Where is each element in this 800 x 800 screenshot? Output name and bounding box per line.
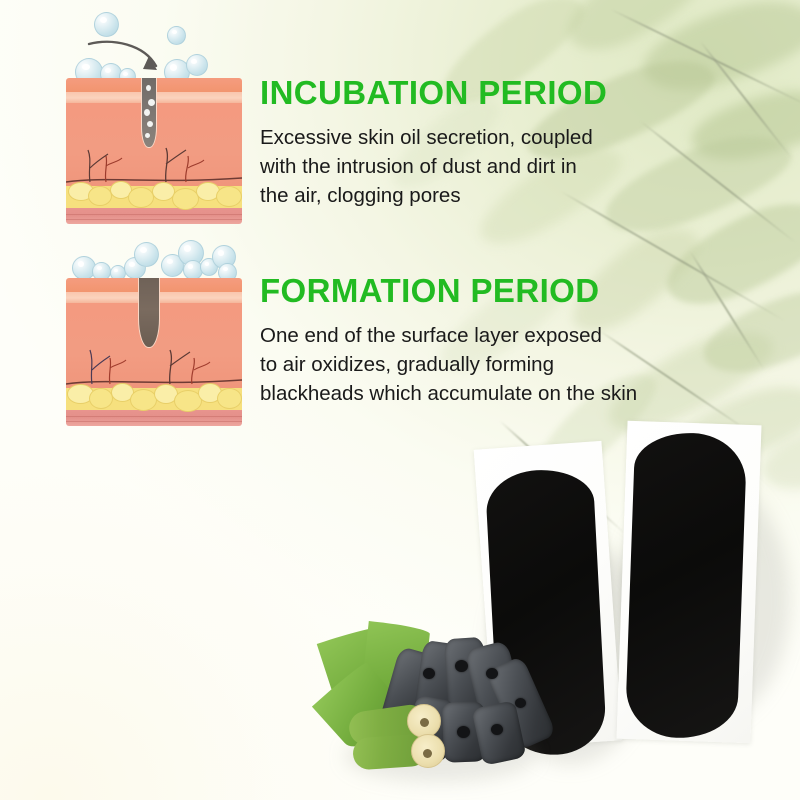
blackhead-plug <box>138 278 160 348</box>
muscle-striation <box>66 214 242 215</box>
sebum-particle <box>148 99 155 106</box>
oil-bubble <box>186 54 208 76</box>
body-formation-period: One end of the surface layer exposed to … <box>260 321 720 408</box>
bamboo-cut-hole <box>423 749 432 758</box>
charcoal-hole <box>491 724 503 735</box>
muscle-striation <box>66 416 242 417</box>
capillary-vessels <box>66 340 242 392</box>
infographic-page: INCUBATION PERIOD Excessive skin oil sec… <box>0 0 800 800</box>
muscle-striation <box>66 421 242 422</box>
body-line: the air, clogging pores <box>260 181 690 210</box>
clogged-pore <box>141 78 157 148</box>
charcoal-hole <box>515 698 526 708</box>
heading-incubation-period: INCUBATION PERIOD <box>260 76 690 111</box>
body-line: One end of the surface layer exposed <box>260 321 720 350</box>
nose-strip-right <box>625 431 748 740</box>
body-line: to air oxidizes, gradually forming <box>260 350 720 379</box>
section-formation-text: FORMATION PERIOD One end of the surface … <box>260 274 720 408</box>
body-line: with the intrusion of dust and dirt in <box>260 152 690 181</box>
sebum-particle <box>144 109 150 116</box>
charcoal-hole <box>486 668 498 679</box>
skin-diagram-incubation <box>66 4 242 224</box>
oil-bubble <box>94 12 119 37</box>
arrow-icon <box>86 36 172 78</box>
muscle-layer <box>66 410 242 426</box>
capillary-vessels <box>66 138 242 190</box>
bamboo-cut-end <box>407 704 441 738</box>
body-line: Excessive skin oil secretion, coupled <box>260 123 690 152</box>
body-line: blackheads which accumulate on the skin <box>260 379 720 408</box>
sebum-particle <box>145 133 150 138</box>
charcoal-hole <box>455 660 468 672</box>
fat-blob <box>128 187 154 208</box>
charcoal-hole <box>457 726 470 738</box>
charcoal-hole <box>423 668 435 679</box>
skin-diagram-formation <box>66 234 242 430</box>
muscle-layer <box>66 208 242 224</box>
fat-blob <box>130 389 157 411</box>
section-incubation-text: INCUBATION PERIOD Excessive skin oil sec… <box>260 76 690 210</box>
sebum-particle <box>146 85 151 91</box>
fat-blob <box>172 188 199 210</box>
skin-cross-section <box>66 278 242 426</box>
body-incubation-period: Excessive skin oil secretion, coupled wi… <box>260 123 690 210</box>
sebum-particle <box>147 121 153 127</box>
heading-formation-period: FORMATION PERIOD <box>260 274 720 309</box>
bamboo-cut-end <box>411 734 445 768</box>
bamboo-charcoal-pile <box>325 612 550 800</box>
oil-bubble <box>134 242 159 267</box>
skin-cross-section <box>66 78 242 224</box>
muscle-striation <box>66 219 242 220</box>
bamboo-cut-hole <box>420 718 429 727</box>
